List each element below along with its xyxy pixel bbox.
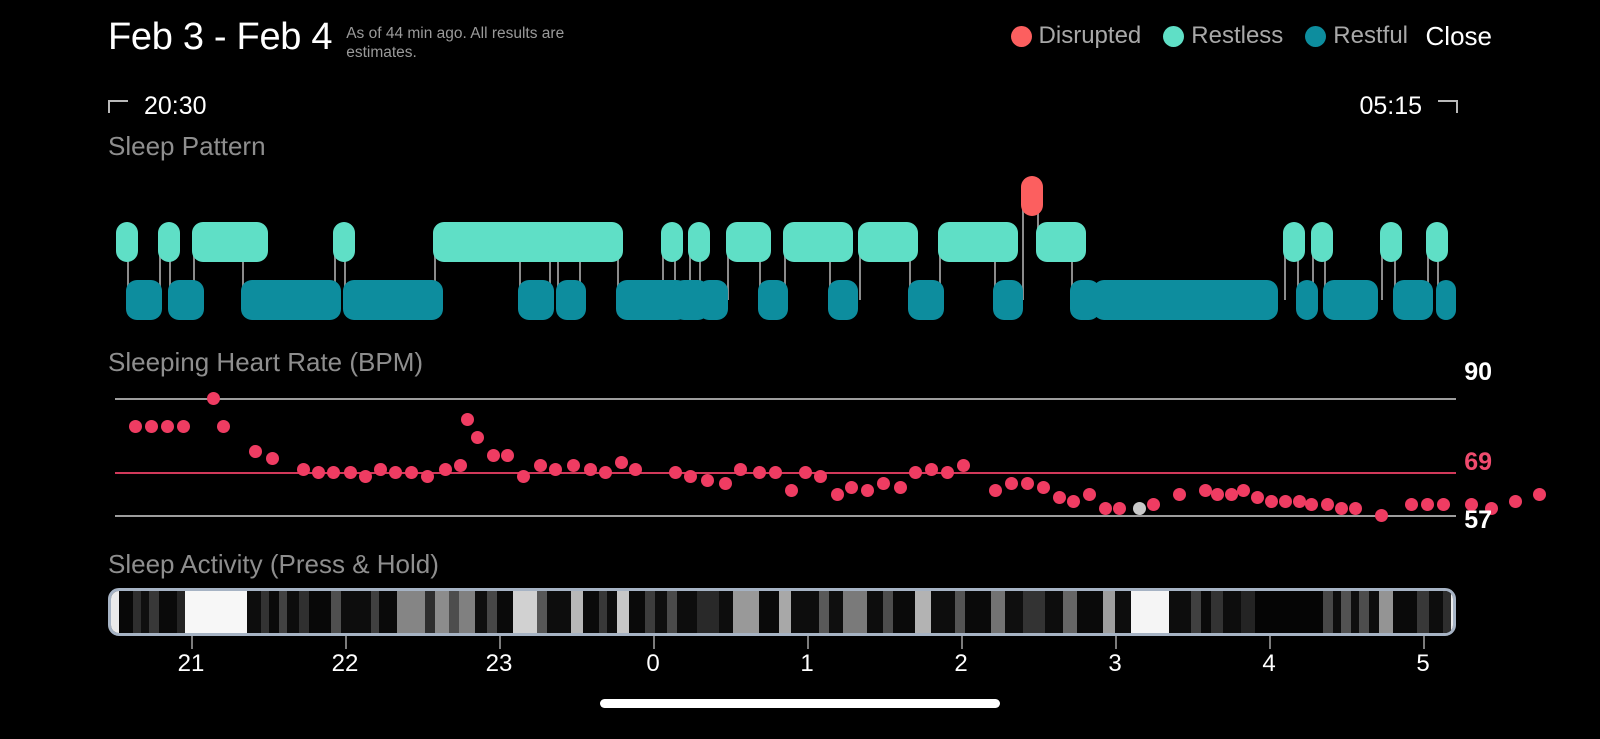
hr-point: [1533, 488, 1546, 501]
activity-band: [1393, 591, 1417, 633]
activity-band: [1255, 591, 1323, 633]
activity-band: [867, 591, 883, 633]
hr-point: [1349, 502, 1362, 515]
activity-band: [1211, 591, 1223, 633]
hr-point: [599, 466, 612, 479]
activity-band: [599, 591, 607, 633]
title-group: Feb 3 - Feb 4 As of 44 min ago. All resu…: [108, 12, 616, 62]
activity-band: [1359, 591, 1369, 633]
sleep-segment-restful: [1323, 280, 1378, 320]
activity-band: [719, 591, 733, 633]
sleep-segment-restless: [688, 222, 710, 262]
end-time-label: 05:15: [1359, 92, 1422, 121]
time-axis: 212223012345: [108, 636, 1456, 686]
activity-band: [1063, 591, 1077, 633]
corner-top-right-icon: [1438, 100, 1458, 113]
hr-point: [1509, 495, 1522, 508]
axis-tick: [345, 636, 347, 649]
activity-band: [667, 591, 677, 633]
hr-point: [1335, 502, 1348, 515]
time-range-row: 20:30 05:15: [108, 92, 1458, 124]
hr-point: [359, 470, 372, 483]
activity-band: [119, 591, 133, 633]
activity-band: [341, 591, 371, 633]
hr-point: [1021, 477, 1034, 490]
hr-min-label: 57: [1464, 506, 1492, 535]
hr-point: [249, 445, 262, 458]
hr-point: [461, 413, 474, 426]
circle-icon: [1305, 26, 1326, 47]
activity-band: [645, 591, 655, 633]
hr-point: [145, 420, 158, 433]
circle-icon: [1163, 26, 1184, 47]
axis-tick: [1269, 636, 1271, 649]
sleep-segment-restless: [116, 222, 138, 262]
activity-band: [287, 591, 299, 633]
axis-label-22: 22: [332, 650, 359, 678]
activity-band: [1241, 591, 1255, 633]
hr-point: [1099, 502, 1112, 515]
activity-band: [497, 591, 513, 633]
axis-label-0: 0: [646, 650, 659, 678]
activity-band: [425, 591, 435, 633]
legend: DisruptedRestlessRestful: [1011, 22, 1408, 50]
axis-tick: [499, 636, 501, 649]
hr-point: [1211, 488, 1224, 501]
hr-point: [471, 431, 484, 444]
hr-average-label: 69: [1464, 448, 1492, 477]
page-subtitle: As of 44 min ago. All results are estima…: [346, 24, 616, 62]
activity-band: [1103, 591, 1115, 633]
activity-band: [1045, 591, 1063, 633]
sleep-segment-restful: [126, 280, 162, 320]
sleep-end-time: 05:15: [1359, 92, 1458, 121]
sleep-segment-restless: [661, 222, 683, 262]
activity-band: [583, 591, 599, 633]
activity-band: [779, 591, 791, 633]
activity-band: [955, 591, 965, 633]
hr-point: [439, 463, 452, 476]
sleep-segment-restful: [343, 280, 443, 320]
sleep-segment-restless: [578, 222, 623, 262]
activity-band: [397, 591, 425, 633]
activity-band: [629, 591, 645, 633]
sleep-pattern-label: Sleep Pattern: [108, 131, 266, 162]
axis-tick: [807, 636, 809, 649]
activity-band: [883, 591, 893, 633]
hr-point: [161, 420, 174, 433]
axis-label-23: 23: [486, 650, 513, 678]
activity-band: [309, 591, 331, 633]
hr-point: [1265, 495, 1278, 508]
sleep-segment-restful: [828, 280, 858, 320]
hr-point: [389, 466, 402, 479]
activity-band: [371, 591, 379, 633]
activity-band: [1351, 591, 1359, 633]
activity-band: [571, 591, 583, 633]
sleep-segment-restless: [1426, 222, 1448, 262]
header: Feb 3 - Feb 4 As of 44 min ago. All resu…: [0, 0, 1600, 78]
activity-band: [965, 591, 991, 633]
hr-point: [989, 484, 1002, 497]
hr-point: [1421, 498, 1434, 511]
hr-point: [1321, 498, 1334, 511]
sleep-segment-restful: [241, 280, 341, 320]
hr-point: [719, 477, 732, 490]
activity-band: [1169, 591, 1191, 633]
hr-max-label: 90: [1464, 358, 1492, 387]
circle-icon: [1011, 26, 1032, 47]
hr-point: [909, 466, 922, 479]
hr-point: [1279, 495, 1292, 508]
hr-point: [894, 481, 907, 494]
activity-band: [547, 591, 571, 633]
sleep-activity-strip[interactable]: [108, 588, 1456, 636]
home-indicator[interactable]: [600, 699, 1000, 708]
hr-point: [925, 463, 938, 476]
hr-reference-line-57: [115, 515, 1456, 517]
activity-band: [1417, 591, 1429, 633]
activity-band: [513, 591, 537, 633]
activity-band: [299, 591, 309, 633]
sleep-segment-restful: [758, 280, 788, 320]
axis-tick: [191, 636, 193, 649]
hr-point: [831, 488, 844, 501]
hr-point: [629, 463, 642, 476]
axis-tick: [1115, 636, 1117, 649]
sleep-segment-restful: [993, 280, 1023, 320]
activity-band: [1201, 591, 1211, 633]
activity-band: [791, 591, 819, 633]
activity-band: [435, 591, 449, 633]
activity-band: [1023, 591, 1045, 633]
hr-point: [861, 484, 874, 497]
hr-point: [615, 456, 628, 469]
hr-point: [549, 463, 562, 476]
hr-point: [845, 481, 858, 494]
hr-point: [941, 466, 954, 479]
activity-band: [487, 591, 497, 633]
sleep-activity-label: Sleep Activity (Press & Hold): [108, 549, 439, 580]
hr-point: [487, 449, 500, 462]
hr-point: [1037, 481, 1050, 494]
activity-band: [379, 591, 397, 633]
activity-band: [133, 591, 141, 633]
start-time-label: 20:30: [144, 92, 207, 121]
activity-band: [617, 591, 629, 633]
hr-point: [701, 474, 714, 487]
activity-band: [829, 591, 843, 633]
sleep-pattern-chart[interactable]: [108, 168, 1456, 326]
activity-band: [1077, 591, 1103, 633]
hr-point: [177, 420, 190, 433]
activity-band: [261, 591, 269, 633]
hr-point: [1173, 488, 1186, 501]
sleep-segment-restful: [518, 280, 554, 320]
activity-band: [1451, 591, 1456, 633]
hr-point: [1005, 477, 1018, 490]
activity-band: [537, 591, 547, 633]
activity-band: [1333, 591, 1341, 633]
activity-band: [177, 591, 185, 633]
sleep-segment-restful: [698, 280, 728, 320]
hr-point: [374, 463, 387, 476]
activity-band: [279, 591, 287, 633]
hr-point: [1293, 495, 1306, 508]
activity-band: [655, 591, 667, 633]
hr-point: [1113, 502, 1126, 515]
activity-band: [915, 591, 931, 633]
hr-point: [1437, 498, 1450, 511]
activity-band: [759, 591, 779, 633]
axis-label-2: 2: [954, 650, 967, 678]
hr-point: [1405, 498, 1418, 511]
sleep-segment-restless: [158, 222, 180, 262]
axis-tick: [961, 636, 963, 649]
activity-band: [459, 591, 475, 633]
hr-point: [517, 470, 530, 483]
activity-band: [733, 591, 759, 633]
sleep-segment-restful: [908, 280, 944, 320]
sleep-segment-restful: [1393, 280, 1433, 320]
sleep-segment-restless: [333, 222, 355, 262]
axis-label-5: 5: [1416, 650, 1429, 678]
hr-point: [344, 466, 357, 479]
hr-point: [753, 466, 766, 479]
activity-band: [1379, 591, 1393, 633]
hr-point: [534, 459, 547, 472]
sleep-segment-restful: [168, 280, 204, 320]
hr-point-selected: [1133, 502, 1146, 515]
hr-point: [454, 459, 467, 472]
activity-band: [1115, 591, 1131, 633]
sleep-segment-restless: [1380, 222, 1402, 262]
sleep-segment-restful: [556, 280, 586, 320]
hr-point: [129, 420, 142, 433]
hr-point: [1053, 491, 1066, 504]
hr-point: [785, 484, 798, 497]
activity-band: [1443, 591, 1451, 633]
sleep-segment-restless: [1036, 222, 1086, 262]
activity-band: [111, 591, 119, 633]
legend-label: Restless: [1191, 22, 1283, 50]
axis-tick: [1423, 636, 1425, 649]
activity-band: [1131, 591, 1169, 633]
hr-point: [1305, 498, 1318, 511]
hr-point: [567, 459, 580, 472]
sleep-start-time: 20:30: [108, 92, 207, 121]
sleep-segment-restful: [1296, 280, 1318, 320]
hr-point: [1083, 488, 1096, 501]
activity-band: [1341, 591, 1351, 633]
hr-point: [297, 463, 310, 476]
activity-band: [1191, 591, 1201, 633]
hr-reference-line-90: [115, 398, 1456, 400]
hr-point: [207, 392, 220, 405]
hr-point: [584, 463, 597, 476]
sleep-segment-restless: [1311, 222, 1333, 262]
axis-tick: [653, 636, 655, 649]
sleep-segment-restless: [938, 222, 1018, 262]
axis-label-4: 4: [1262, 650, 1275, 678]
hr-point: [421, 470, 434, 483]
hr-point: [312, 466, 325, 479]
hr-point: [957, 459, 970, 472]
activity-band: [149, 591, 159, 633]
hr-point: [684, 470, 697, 483]
activity-band: [1429, 591, 1443, 633]
activity-band: [475, 591, 487, 633]
hr-point: [217, 420, 230, 433]
activity-band: [1369, 591, 1379, 633]
activity-band: [607, 591, 617, 633]
activity-band: [931, 591, 955, 633]
hr-point: [814, 470, 827, 483]
legend-label: Disrupted: [1039, 22, 1142, 50]
activity-band: [697, 591, 719, 633]
activity-band: [269, 591, 279, 633]
activity-band: [185, 591, 247, 633]
hr-point: [327, 466, 340, 479]
activity-band: [677, 591, 697, 633]
sleep-segment-restful: [1093, 280, 1278, 320]
hr-point: [1147, 498, 1160, 511]
hr-point: [1067, 495, 1080, 508]
activity-band: [843, 591, 867, 633]
axis-label-1: 1: [800, 650, 813, 678]
hr-point: [769, 466, 782, 479]
activity-band: [141, 591, 149, 633]
sleep-segment-restless: [858, 222, 918, 262]
activity-band: [991, 591, 1005, 633]
hr-point: [734, 463, 747, 476]
activity-band: [819, 591, 829, 633]
legend-label: Restful: [1333, 22, 1408, 50]
hr-point: [405, 466, 418, 479]
page-title: Feb 3 - Feb 4: [108, 12, 332, 62]
legend-item-restless: Restless: [1163, 22, 1283, 50]
close-button[interactable]: Close: [1426, 21, 1492, 52]
sleep-detail-screen: Feb 3 - Feb 4 As of 44 min ago. All resu…: [0, 0, 1600, 739]
sleep-segment-restless: [783, 222, 853, 262]
sleep-segment-restful: [1436, 280, 1456, 320]
legend-item-restful: Restful: [1305, 22, 1408, 50]
hr-point: [266, 452, 279, 465]
corner-top-left-icon: [108, 100, 128, 113]
hr-point: [501, 449, 514, 462]
sleep-segment-restless: [192, 222, 268, 262]
activity-band: [159, 591, 177, 633]
sleep-segment-restless: [548, 222, 570, 262]
activity-band: [331, 591, 341, 633]
activity-band: [1323, 591, 1333, 633]
hr-point: [1251, 491, 1264, 504]
hr-point: [1375, 509, 1388, 522]
sleep-segment-restless: [726, 222, 771, 262]
hr-point: [799, 466, 812, 479]
activity-band: [893, 591, 915, 633]
activity-band: [1223, 591, 1241, 633]
activity-band: [1005, 591, 1023, 633]
sleep-segment-disrupted: [1021, 176, 1043, 216]
activity-band: [247, 591, 261, 633]
heart-rate-label: Sleeping Heart Rate (BPM): [108, 347, 423, 378]
heart-rate-chart[interactable]: [115, 380, 1456, 540]
legend-item-disrupted: Disrupted: [1011, 22, 1142, 50]
hr-point: [669, 466, 682, 479]
sleep-segment-restless: [1283, 222, 1305, 262]
axis-label-3: 3: [1108, 650, 1121, 678]
hr-point: [1237, 484, 1250, 497]
hr-point: [877, 477, 890, 490]
activity-band: [449, 591, 459, 633]
axis-label-21: 21: [178, 650, 205, 678]
